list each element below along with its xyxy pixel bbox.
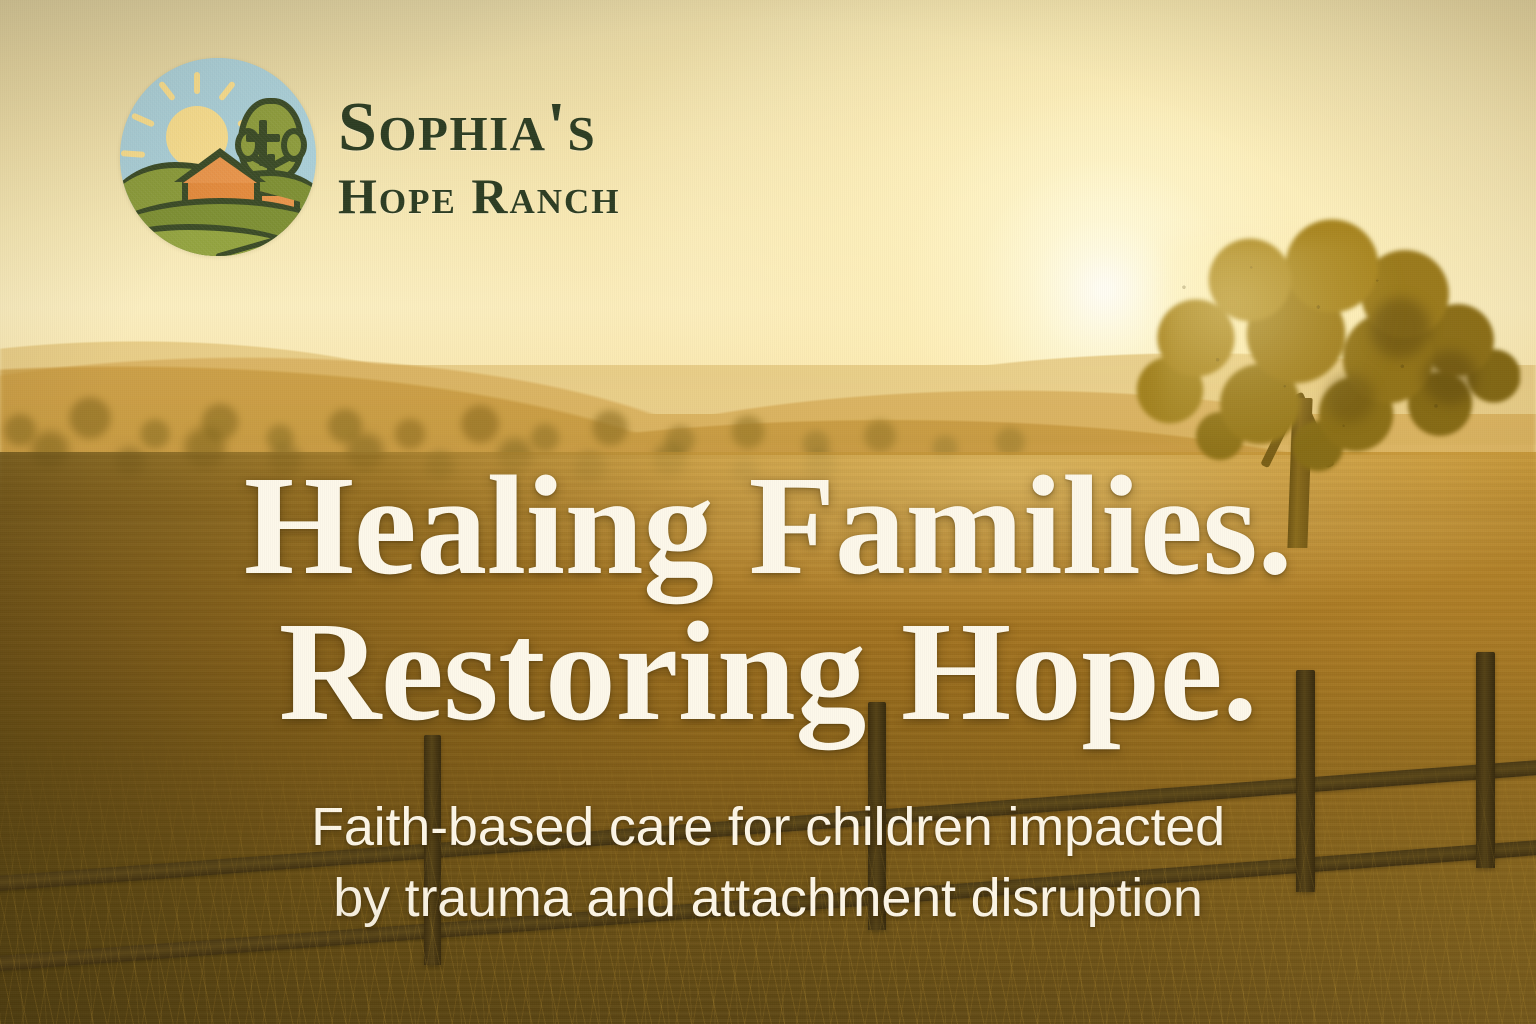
page-subtitle: Faith-based care for children impacted b… bbox=[0, 792, 1536, 935]
subtitle-line-1: Faith-based care for children impacted bbox=[0, 792, 1536, 863]
brand-name-line1: Sophia's bbox=[338, 93, 621, 163]
headline-line-2: Restoring Hope. bbox=[0, 598, 1536, 744]
cross-icon-bar bbox=[246, 134, 280, 142]
subtitle-line-2: by trauma and attachment disruption bbox=[0, 863, 1536, 934]
brand-wordmark: Sophia's Hope Ranch bbox=[338, 93, 621, 221]
page-headline: Healing Families. Restoring Hope. bbox=[0, 452, 1536, 745]
oak-rim-light bbox=[1160, 238, 1400, 458]
brand-logo[interactable]: Sophia's Hope Ranch bbox=[120, 58, 621, 256]
brand-name-line2: Hope Ranch bbox=[338, 171, 621, 221]
ranch-church-sun-hills-circle-logo-icon bbox=[120, 58, 316, 256]
church-roof bbox=[183, 157, 257, 183]
sun-ray-icon bbox=[194, 72, 200, 94]
hero-poster: Sophia's Hope Ranch Healing Families. Re… bbox=[0, 0, 1536, 1024]
headline-line-1: Healing Families. bbox=[0, 452, 1536, 598]
